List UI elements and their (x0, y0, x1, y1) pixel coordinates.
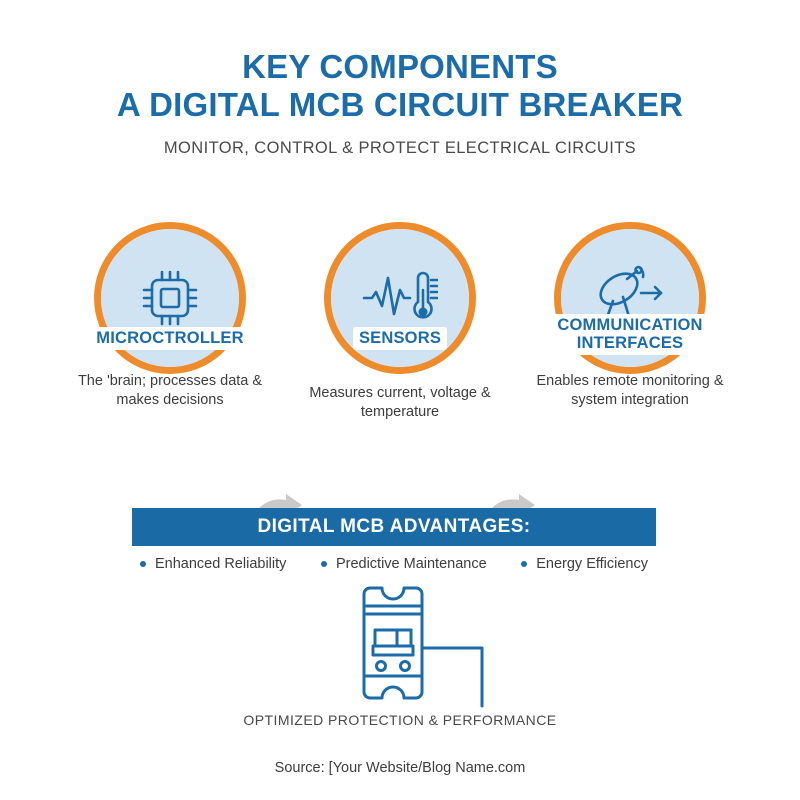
component-label-text: MICROCTROLLER (90, 327, 249, 350)
component-label: SENSORS (300, 327, 500, 350)
cpu-chip-icon (94, 222, 246, 374)
component-label-text: SENSORS (353, 327, 447, 350)
advantage-item: Energy Efficiency (521, 556, 648, 572)
bullet-dot-icon (321, 561, 327, 567)
component-label-text: COMMUNICATION INTERFACES (530, 314, 730, 355)
component-description: Enables remote monitoring & system integ… (520, 372, 740, 410)
component-microcontroller: MICROCTROLLER The 'brain; processes data… (70, 222, 270, 374)
source-text: Source: [Your Website/Blog Name.com (0, 760, 800, 776)
advantages-banner: DIGITAL MCB ADVANTAGES: (132, 508, 656, 546)
component-label: MICROCTROLLER (70, 327, 270, 350)
infographic-canvas: KEY COMPONENTS A DIGITAL MCB CIRCUIT BRE… (0, 0, 800, 800)
device-caption: OPTIMIZED PROTECTION & PERFORMANCE (0, 712, 800, 728)
component-label: COMMUNICATION INTERFACES (530, 314, 730, 355)
advantages-banner-title: DIGITAL MCB ADVANTAGES: (257, 516, 530, 538)
advantage-label: Enhanced Reliability (155, 556, 286, 572)
waveform-thermometer-icon (324, 222, 476, 374)
mcb-circuit-breaker-icon (352, 578, 512, 713)
header: KEY COMPONENTS A DIGITAL MCB CIRCUIT BRE… (0, 48, 800, 158)
advantage-label: Energy Efficiency (536, 556, 648, 572)
bullet-dot-icon (140, 561, 146, 567)
page-subtitle: MONITOR, CONTROL & PROTECT ELECTRICAL CI… (0, 139, 800, 158)
advantage-item: Enhanced Reliability (140, 556, 286, 572)
component-description: Measures current, voltage & temperature (290, 384, 510, 422)
component-sensors: SENSORS Measures current, voltage & temp… (300, 222, 500, 374)
component-communication-interfaces: COMMUNICATION INTERFACES Enables remote … (530, 222, 730, 374)
component-circle (94, 222, 246, 374)
bullet-dot-icon (521, 561, 527, 567)
advantage-item: Predictive Maintenance (321, 556, 487, 572)
page-title-line-2: A DIGITAL MCB CIRCUIT BREAKER (0, 86, 800, 124)
components-row: MICROCTROLLER The 'brain; processes data… (0, 222, 800, 422)
component-description: The 'brain; processes data & makes decis… (60, 372, 280, 410)
advantage-label: Predictive Maintenance (336, 556, 487, 572)
advantages-list: Enhanced Reliability Predictive Maintena… (132, 556, 656, 572)
component-circle (324, 222, 476, 374)
page-title-line-1: KEY COMPONENTS (0, 48, 800, 86)
